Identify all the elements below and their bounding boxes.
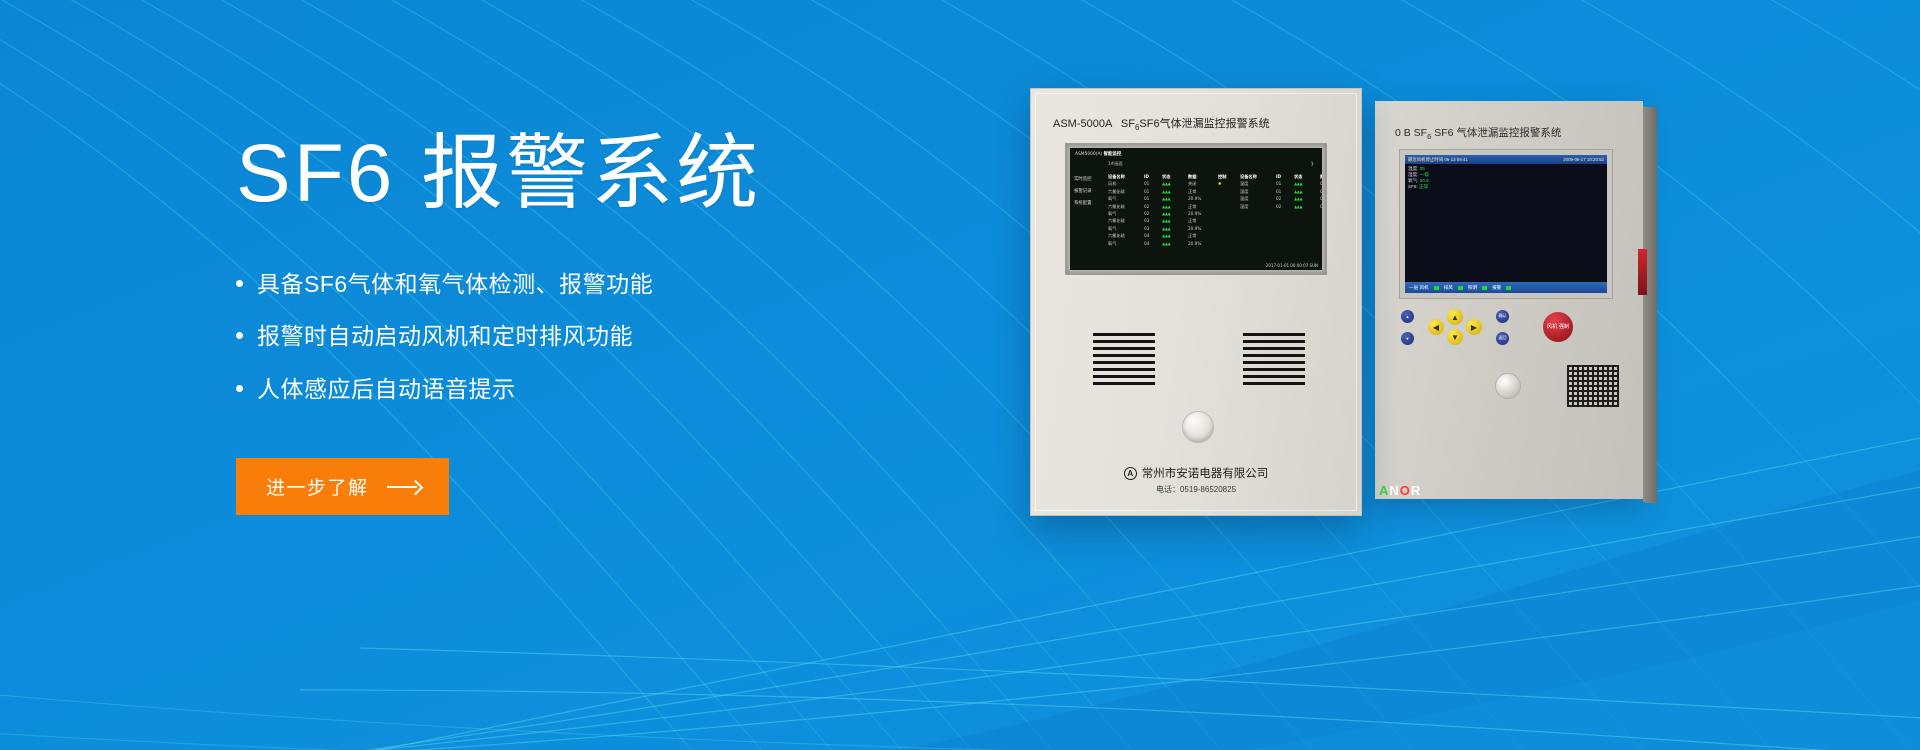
cell-data: 20.9%: [1188, 195, 1218, 202]
front-screen-timestamp: 2017-01-01 00:00:07 SUN: [1266, 263, 1318, 268]
learn-more-button[interactable]: 进一步了解: [236, 458, 449, 515]
bullet-dot-icon: [236, 385, 243, 392]
cell-data-2: 00℃: [1320, 180, 1322, 187]
rear-screen-readouts: 温度: 25 湿度: 一级 氧气: 20.9 SF6: 正常: [1408, 166, 1429, 190]
cell-name: 氧气: [1108, 240, 1144, 247]
unit-rear-side-edge: [1643, 107, 1657, 504]
status-led-icon: [1482, 286, 1487, 290]
col-header-id: ID: [1144, 173, 1162, 180]
status-ok-icon: ▲▲▲: [1162, 203, 1188, 210]
back-button[interactable]: 返回: [1496, 332, 1509, 345]
cell-id: 04: [1144, 240, 1162, 247]
rear-row-label: SF6:: [1408, 184, 1418, 189]
cell-id-2: 01: [1276, 180, 1294, 187]
table-row[interactable]: 氧气 04 ▲▲▲ 20.9%: [1108, 240, 1319, 247]
status-led-icon: [1458, 286, 1463, 290]
direction-pad: ▲ ◀ ▶ ▼: [1428, 309, 1482, 345]
cell-name: 氧气: [1108, 225, 1144, 232]
cell-data: 关闭: [1188, 180, 1218, 187]
cell-id-2: 02: [1276, 203, 1294, 210]
rear-screen-topbar: 最近风机停止时间 06-13 09:41 2009-06-17 10:20:52: [1405, 155, 1607, 164]
status-ok-icon: ▲▲▲: [1162, 240, 1188, 247]
col-header-name: 设备名称: [1108, 173, 1144, 180]
cell-data: 20.9%: [1188, 240, 1218, 247]
learn-more-label: 进一步了解: [266, 473, 369, 500]
company-phone: 电话：0519-86520825: [1031, 484, 1361, 495]
control-toggle-icon[interactable]: ✸: [1218, 180, 1240, 187]
cell-data: 正常: [1188, 203, 1218, 210]
sidebar-item-realtime[interactable]: 实时监控: [1074, 174, 1092, 186]
col-header-data: 数据: [1188, 173, 1218, 180]
status-ok-icon-2: ▲▲▲: [1294, 195, 1320, 202]
feature-text: 人体感应后自动语音提示: [257, 372, 516, 407]
cell-control: [1218, 188, 1240, 195]
rear-row-label: 氧气:: [1408, 178, 1418, 183]
brand-letter-a: A: [1379, 483, 1389, 498]
feature-text: 报警时自动启动风机和定时排风功能: [257, 319, 633, 354]
hero-content: SF6 报警系统 具备SF6气体和氧气体检测、报警功能 报警时自动启动风机和定时…: [236, 130, 956, 515]
product-photo-group: 0 B SF6 SF6 气体泄漏监控报警系统 最近风机停止时间 06-13 09…: [1030, 88, 1750, 628]
dpad-up-button[interactable]: ▲: [1447, 309, 1463, 325]
cell-data: 20.9%: [1188, 210, 1218, 217]
cell-data-2: 00%RH: [1320, 188, 1322, 195]
status-ok-icon-2: ▲▲▲: [1294, 203, 1320, 210]
col-header-id-2: ID: [1276, 173, 1294, 180]
cell-name: 六氟化硫: [1108, 232, 1144, 239]
front-screen-title: ASM5000(A) 智能监控: [1075, 151, 1121, 157]
cell-control: [1218, 203, 1240, 210]
scroll-up-button[interactable]: ▲: [1401, 310, 1414, 323]
front-screen-sidebar: 实时监控 报警记录 系统配置: [1074, 174, 1092, 210]
cell-name: 氧气: [1108, 195, 1144, 202]
speaker-grille-right: [1243, 333, 1305, 385]
status-ok-icon: ▲▲▲: [1162, 195, 1188, 202]
anor-brand-logo: ANOR: [1379, 483, 1421, 498]
scroll-down-button[interactable]: ▼: [1401, 332, 1414, 345]
col-header-status-2: 状态: [1294, 173, 1320, 180]
rear-row-value: 一级: [1420, 172, 1429, 177]
rear-status-item: 排风: [1444, 285, 1453, 291]
cell-data-2: 00℃: [1320, 195, 1322, 202]
cell-name: 氧气: [1108, 210, 1144, 217]
col-header-name-2: 设备名称: [1240, 173, 1276, 180]
cell-id: 01: [1144, 188, 1162, 195]
table-row[interactable]: 氧气 01 ▲▲▲ 20.9% 温度 02 ▲▲▲ 00℃: [1108, 195, 1319, 202]
feature-list: 具备SF6气体和氧气体检测、报警功能 报警时自动启动风机和定时排风功能 人体感应…: [236, 267, 956, 407]
dpad-down-button[interactable]: ▼: [1447, 329, 1463, 345]
cell-name-2: 湿度: [1240, 188, 1276, 195]
list-item: 具备SF6气体和氧气体检测、报警功能: [236, 267, 956, 302]
dpad-right-button[interactable]: ▶: [1466, 319, 1482, 335]
table-row[interactable]: 六氟化硫 01 ▲▲▲ 正常 湿度 01 ▲▲▲ 00%RH: [1108, 188, 1319, 195]
status-ok-icon: ▲▲▲: [1162, 232, 1188, 239]
unit-front-product-label: SF6气体泄漏监控报警系统: [1139, 118, 1269, 130]
cell-data-2: 00%RH: [1320, 203, 1322, 210]
cell-id: 03: [1144, 225, 1162, 232]
status-led-icon: [1434, 286, 1439, 290]
front-screen-model: ASM5000(A): [1075, 152, 1102, 157]
confirm-button[interactable]: 确认: [1496, 310, 1509, 323]
cell-name-2: 温度: [1240, 180, 1276, 187]
cell-name: 六氟化硫: [1108, 217, 1144, 224]
rear-function-keys: 确认 返回: [1496, 310, 1509, 345]
chevron-right-icon[interactable]: 》: [1311, 161, 1316, 168]
cell-id-2: 01: [1276, 188, 1294, 195]
cell-name: 六氟化硫: [1108, 203, 1144, 210]
table-row[interactable]: 氧气 02 ▲▲▲ 20.9%: [1108, 210, 1319, 217]
rear-status-label: 一层 风机: [1409, 285, 1429, 291]
unit-rear-title: 0 B SF6 SF6 气体泄漏监控报警系统: [1395, 125, 1561, 141]
dpad-left-button[interactable]: ◀: [1428, 319, 1444, 335]
table-header-row: 设备名称 ID 状态 数据 控制 设备名称 ID 状态 数据 控制: [1108, 173, 1319, 180]
list-item: 人体感应后自动语音提示: [236, 372, 956, 407]
cell-id: 01: [1144, 195, 1162, 202]
status-ok-icon: ▲▲▲: [1162, 180, 1188, 187]
rear-topbar-left: 最近风机停止时间 06-13 09:41: [1408, 157, 1468, 163]
list-item: 报警时自动启动风机和定时排风功能: [236, 319, 956, 354]
bullet-dot-icon: [236, 332, 243, 339]
cell-id: 02: [1144, 210, 1162, 217]
sidebar-item-system-config[interactable]: 系统配置: [1074, 198, 1092, 210]
front-screen-tab[interactable]: 1#画面: [1108, 161, 1123, 167]
brand-letter-r: R: [1411, 483, 1421, 498]
unit-front-model: ASM-5000A: [1053, 118, 1112, 130]
cell-id: 04: [1144, 232, 1162, 239]
brand-letter-o: O: [1400, 483, 1411, 498]
status-ok-icon-2: ▲▲▲: [1294, 180, 1320, 187]
feature-text: 具备SF6气体和氧气体检测、报警功能: [257, 267, 653, 302]
table-row[interactable]: 六氟化硫 04 ▲▲▲ 正常: [1108, 232, 1319, 239]
status-ok-icon: ▲▲▲: [1162, 210, 1188, 217]
rear-row-value: 20.9: [1420, 178, 1429, 183]
cell-data: 正常: [1188, 217, 1218, 224]
unit-front-title: ASM-5000A SF6SF6气体泄漏监控报警系统: [1053, 115, 1270, 132]
rear-speaker-grille: [1567, 365, 1619, 407]
unit-rear-display: 最近风机停止时间 06-13 09:41 2009-06-17 10:20:52…: [1399, 149, 1613, 299]
rear-status-item: 照明: [1468, 285, 1477, 291]
rear-row-value: 正常: [1419, 184, 1428, 189]
product-unit-front: ASM-5000A SF6SF6气体泄漏监控报警系统 ASM5000(A) 智能…: [1030, 88, 1362, 516]
cell-control: [1218, 195, 1240, 202]
cell-name-2: 温度: [1240, 195, 1276, 202]
status-ok-icon: ▲▲▲: [1162, 225, 1188, 232]
status-led-icon: [1506, 286, 1511, 290]
table-row[interactable]: 风机 01 ▲▲▲ 关闭 ✸ 温度 01 ▲▲▲ 00℃: [1108, 180, 1319, 187]
rear-red-side-strip: [1638, 249, 1647, 295]
product-unit-rear: 0 B SF6 SF6 气体泄漏监控报警系统 最近风机停止时间 06-13 09…: [1375, 101, 1643, 499]
unit-rear-model: 0 B: [1395, 127, 1411, 139]
front-screen-subtitle: 智能监控: [1104, 152, 1122, 157]
cell-id-2: 02: [1276, 195, 1294, 202]
sidebar-item-alarm-log[interactable]: 报警记录: [1074, 186, 1092, 198]
table-row[interactable]: 六氟化硫 02 ▲▲▲ 正常 湿度 02 ▲▲▲ 00%RH: [1108, 203, 1319, 210]
cell-name-2: 湿度: [1240, 203, 1276, 210]
rear-topbar-right: 2009-06-17 10:20:52: [1563, 157, 1604, 162]
cell-data: 正常: [1188, 188, 1218, 195]
motion-sensor-dome: [1182, 411, 1214, 443]
cell-name: 六氟化硫: [1108, 188, 1144, 195]
col-header-data-2: 数据: [1320, 173, 1322, 180]
speaker-grille-left: [1093, 333, 1155, 385]
cell-data: 20.9%: [1188, 225, 1218, 232]
unit-rear-sub6: 6: [1427, 132, 1431, 141]
front-screen-table: 设备名称 ID 状态 数据 控制 设备名称 ID 状态 数据 控制: [1108, 173, 1319, 247]
cell-name: 风机: [1108, 180, 1144, 187]
company-logo-icon: A: [1124, 467, 1137, 480]
status-ok-icon: ▲▲▲: [1162, 188, 1188, 195]
arrow-right-icon: [387, 481, 421, 493]
rear-row-label: 湿度:: [1408, 172, 1418, 177]
rear-motion-sensor-dome: [1495, 373, 1521, 399]
page-title: SF6 报警系统: [236, 130, 956, 219]
unit-rear-product-label: SF6 气体泄漏监控报警系统: [1434, 127, 1561, 139]
table-row[interactable]: 氧气 03 ▲▲▲ 20.9%: [1108, 225, 1319, 232]
fan-force-button[interactable]: 风机 强制: [1543, 312, 1573, 342]
cell-id: 01: [1144, 180, 1162, 187]
table-row[interactable]: 六氟化硫 03 ▲▲▲ 正常: [1108, 217, 1319, 224]
unit-front-display: ASM5000(A) 智能监控 1#画面 》 实时监控 报警记录 系统配置 设备…: [1065, 143, 1327, 275]
rear-keypad: ▲ ▼ ▲ ◀ ▶ ▼ 确认 返回 风机 强制: [1401, 309, 1573, 345]
brand-letter-n: N: [1389, 483, 1399, 498]
rear-row-value: 25: [1420, 166, 1425, 171]
col-header-status: 状态: [1162, 173, 1188, 180]
cell-data: 正常: [1188, 232, 1218, 239]
bullet-dot-icon: [236, 280, 243, 287]
cell-id: 02: [1144, 203, 1162, 210]
cell-id: 03: [1144, 217, 1162, 224]
rear-screen-statusbar: 一层 风机 排风 照明 报警: [1405, 282, 1607, 293]
rear-status-item: 报警: [1492, 285, 1501, 291]
rear-scroll-keys: ▲ ▼: [1401, 310, 1414, 345]
company-name: 常州市安诺电器有限公司: [1142, 465, 1269, 481]
col-header-control: 控制: [1218, 173, 1240, 180]
status-ok-icon: ▲▲▲: [1162, 217, 1188, 224]
company-footer: A 常州市安诺电器有限公司 电话：0519-86520825: [1031, 465, 1361, 495]
status-ok-icon-2: ▲▲▲: [1294, 188, 1320, 195]
rear-row-label: 温度:: [1408, 166, 1418, 171]
hero-banner: SF6 报警系统 具备SF6气体和氧气体检测、报警功能 报警时自动启动风机和定时…: [0, 0, 1920, 750]
